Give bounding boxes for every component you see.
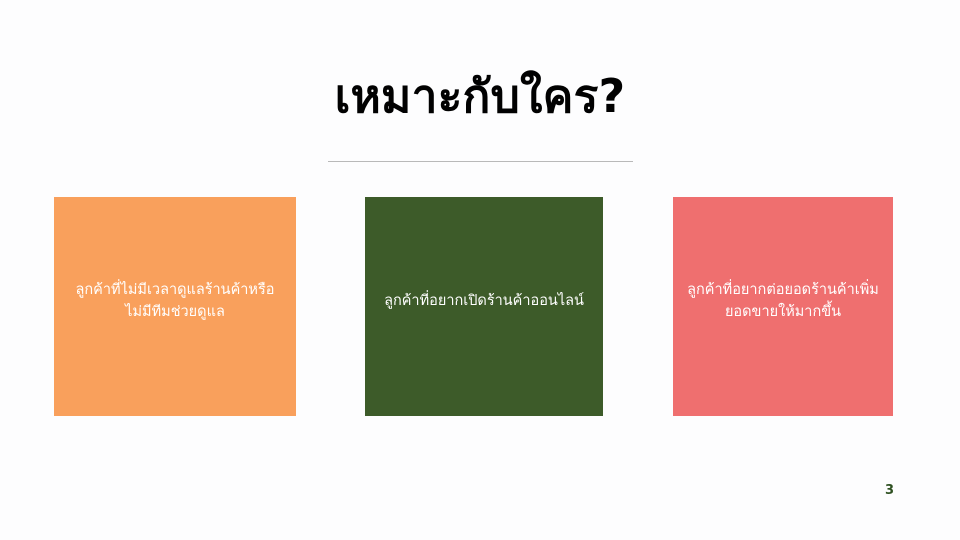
audience-card-open-online-store[interactable]: ลูกค้าที่อยากเปิดร้านค้าออนไลน์ bbox=[365, 197, 603, 416]
page-number: 3 bbox=[885, 483, 915, 498]
slide: เหมาะกับใคร? ลูกค้าที่ไม่มีเวลาดูแลร้านค… bbox=[0, 0, 960, 540]
audience-card-group: ลูกค้าที่ไม่มีเวลาดูแลร้านค้าหรือไม่มีที… bbox=[0, 197, 960, 417]
title-divider bbox=[328, 161, 633, 162]
audience-card-label: ลูกค้าที่ไม่มีเวลาดูแลร้านค้าหรือไม่มีที… bbox=[64, 279, 286, 323]
audience-card-grow-sales[interactable]: ลูกค้าที่อยากต่อยอดร้านค้าเพิ่มยอดขายให้… bbox=[673, 197, 893, 416]
page-title: เหมาะกับใคร? bbox=[0, 66, 960, 126]
audience-card-no-time[interactable]: ลูกค้าที่ไม่มีเวลาดูแลร้านค้าหรือไม่มีที… bbox=[54, 197, 296, 416]
audience-card-label: ลูกค้าที่อยากเปิดร้านค้าออนไลน์ bbox=[375, 290, 593, 312]
audience-card-label: ลูกค้าที่อยากต่อยอดร้านค้าเพิ่มยอดขายให้… bbox=[683, 279, 883, 323]
